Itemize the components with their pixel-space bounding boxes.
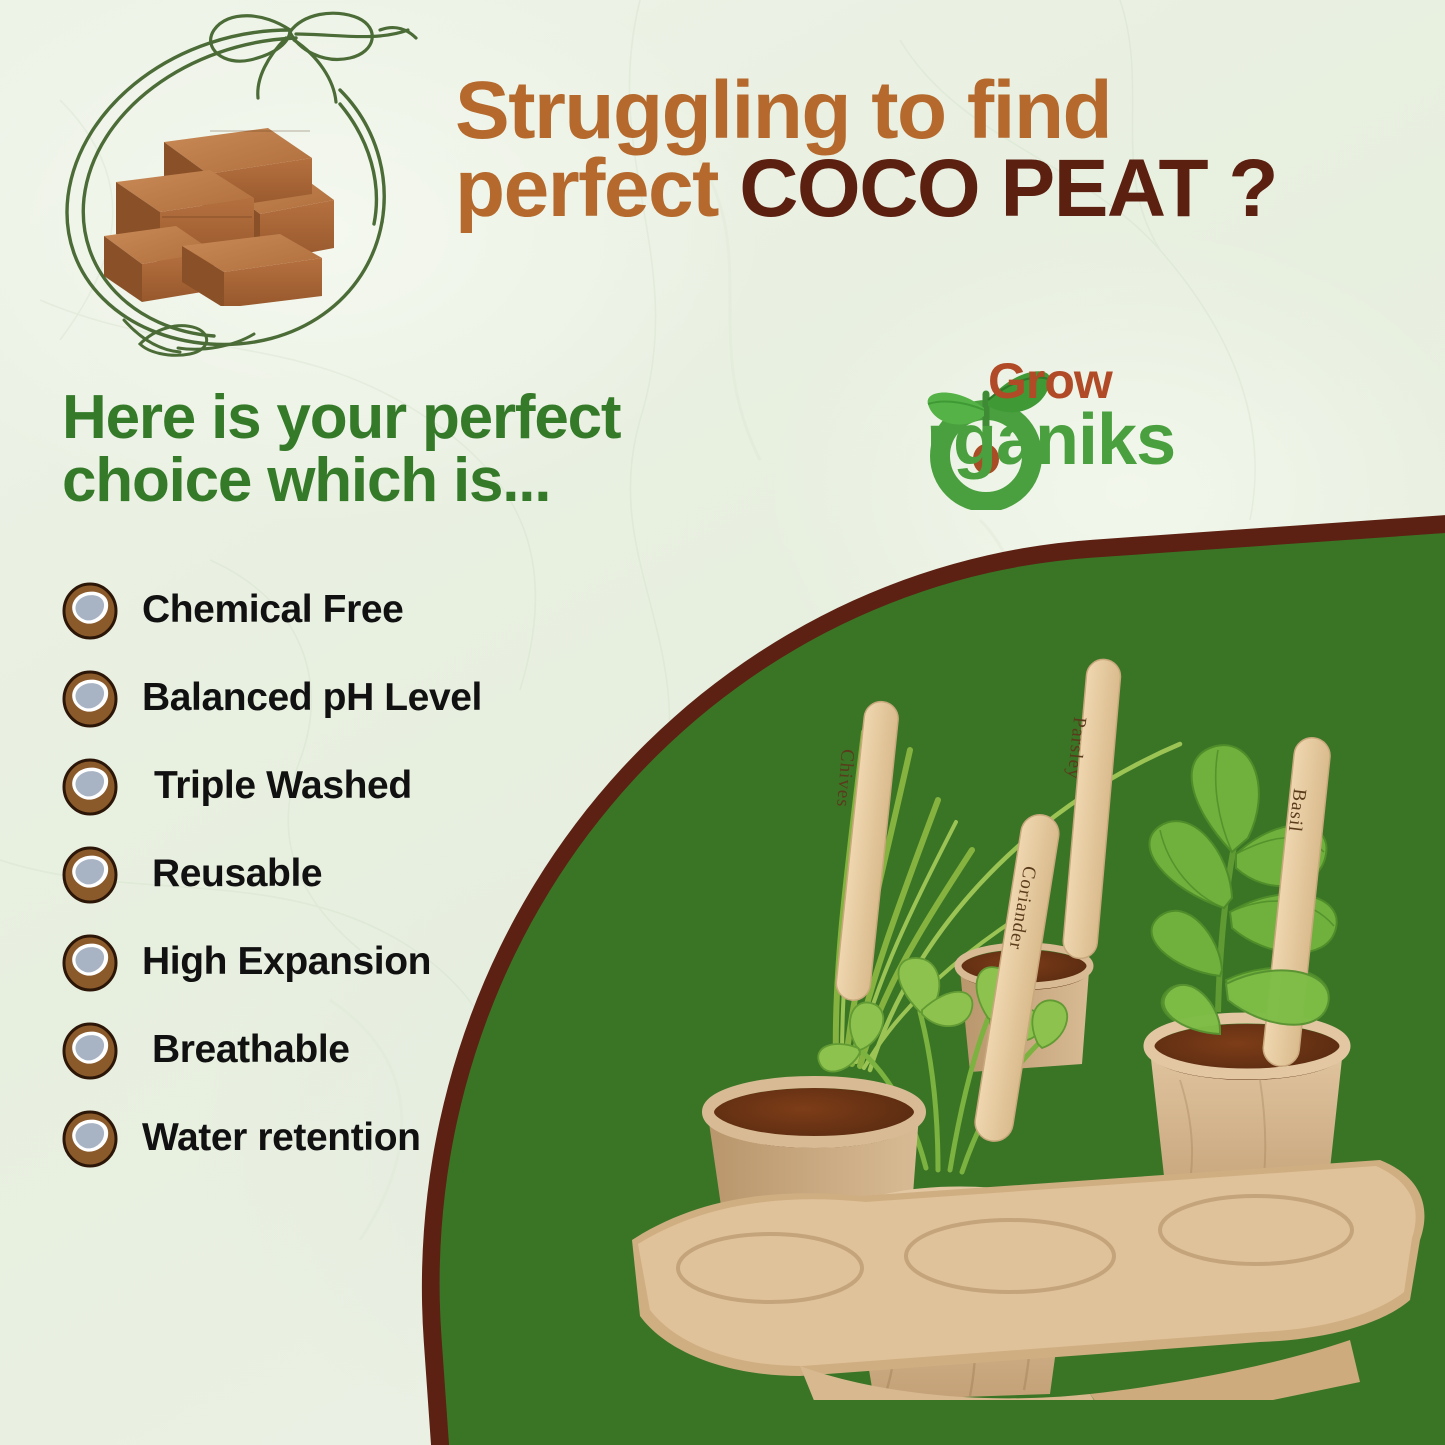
subheadline-line-2: choice which is...: [62, 449, 822, 512]
feature-label: High Expansion: [142, 940, 431, 984]
coconut-icon: [58, 1019, 122, 1081]
logo-word-organiks: rganiks: [926, 406, 1175, 474]
feature-item: Balanced pH Level: [58, 654, 658, 742]
feature-label: Water retention: [142, 1116, 421, 1160]
logo-wordmark: Grow rganiks: [988, 356, 1175, 474]
feature-item: Reusable: [58, 830, 658, 918]
headline-perfect-word: perfect: [455, 143, 739, 234]
headline-line-1: Struggling to find: [455, 72, 1405, 150]
coconut-icon: [58, 931, 122, 993]
feature-item: Water retention: [58, 1094, 658, 1182]
subheadline: Here is your perfect choice which is...: [62, 386, 822, 512]
feature-list: Chemical Free Balanced pH Level Triple W…: [58, 566, 658, 1182]
feature-item: Chemical Free: [58, 566, 658, 654]
coconut-icon: [58, 843, 122, 905]
headline-cocopeat-word: COCO PEAT ?: [739, 143, 1277, 234]
brand-logo: Grow rganiks: [900, 352, 1300, 502]
subheadline-line-1: Here is your perfect: [62, 386, 822, 449]
headline: Struggling to find perfect COCO PEAT ?: [455, 72, 1405, 228]
seedling-tray-illustration: [620, 640, 1445, 1400]
feature-label: Chemical Free: [142, 588, 403, 632]
coconut-icon: [58, 667, 122, 729]
feature-label: Triple Washed: [154, 764, 412, 808]
product-photo: Chives Parsley Coriander Basil: [620, 640, 1445, 1400]
coconut-icon: [58, 579, 122, 641]
poster-canvas: Struggling to find perfect COCO PEAT ? H…: [0, 0, 1445, 1445]
feature-item: Triple Washed: [58, 742, 658, 830]
logo-word-grow: Grow: [988, 356, 1175, 406]
feature-label: Balanced pH Level: [142, 676, 482, 720]
coconut-icon: [58, 1107, 122, 1169]
coco-peat-bricks-image: [90, 96, 350, 306]
feature-label: Reusable: [152, 852, 322, 896]
feature-item: Breathable: [58, 1006, 658, 1094]
coconut-icon: [58, 755, 122, 817]
feature-label: Breathable: [152, 1028, 350, 1072]
hero-wreath-group: [28, 8, 428, 358]
headline-line-2: perfect COCO PEAT ?: [455, 150, 1405, 228]
feature-item: High Expansion: [58, 918, 658, 1006]
